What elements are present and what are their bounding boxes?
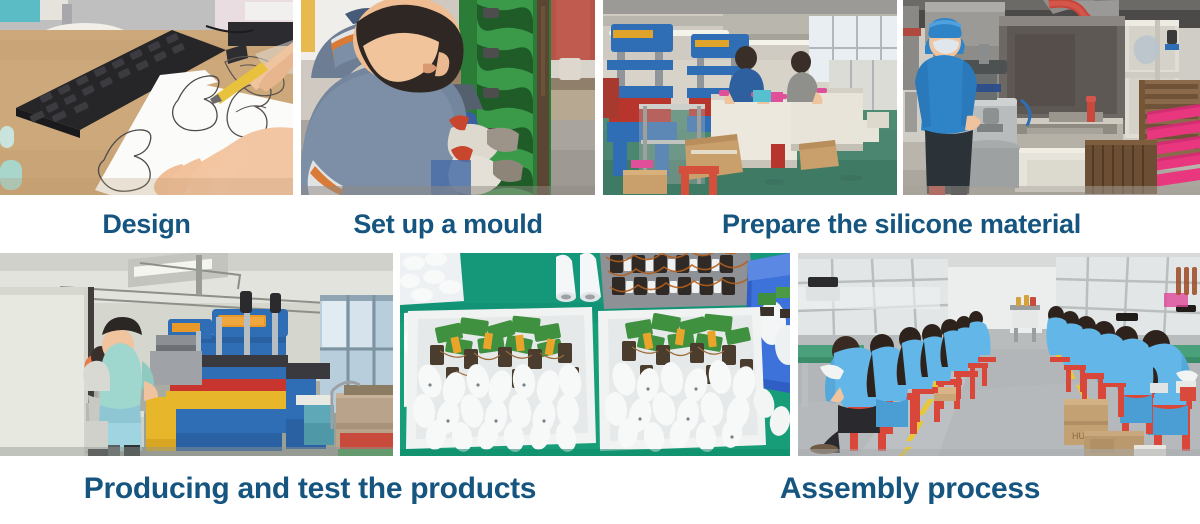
design-desk-illustration — [0, 0, 293, 195]
photo-assembly[interactable]: HUAWEI — [798, 253, 1200, 456]
photo-silicone[interactable] — [903, 0, 1200, 195]
caption-design: Design — [0, 196, 293, 252]
caption-mould: Set up a mould — [301, 196, 595, 252]
silicone-machine-illustration — [903, 0, 1200, 195]
caption-silicone: Prepare the silicone material — [603, 196, 1200, 252]
photo-workshop[interactable] — [603, 0, 897, 195]
mould-setup-illustration — [301, 0, 595, 195]
press-hall-illustration — [0, 253, 393, 456]
photo-testing[interactable] — [400, 253, 790, 456]
workshop-illustration — [603, 0, 897, 195]
assembly-line-illustration: HUAWEI — [798, 253, 1200, 456]
photo-mould[interactable] — [301, 0, 595, 195]
photo-design[interactable] — [0, 0, 293, 195]
photo-production[interactable] — [0, 253, 393, 456]
caption-producing: Producing and test the products — [0, 458, 620, 520]
trays-illustration — [400, 253, 790, 456]
process-gallery: Design Set up a mould Prepare the silico… — [0, 0, 1200, 524]
caption-assembly: Assembly process — [620, 458, 1200, 520]
